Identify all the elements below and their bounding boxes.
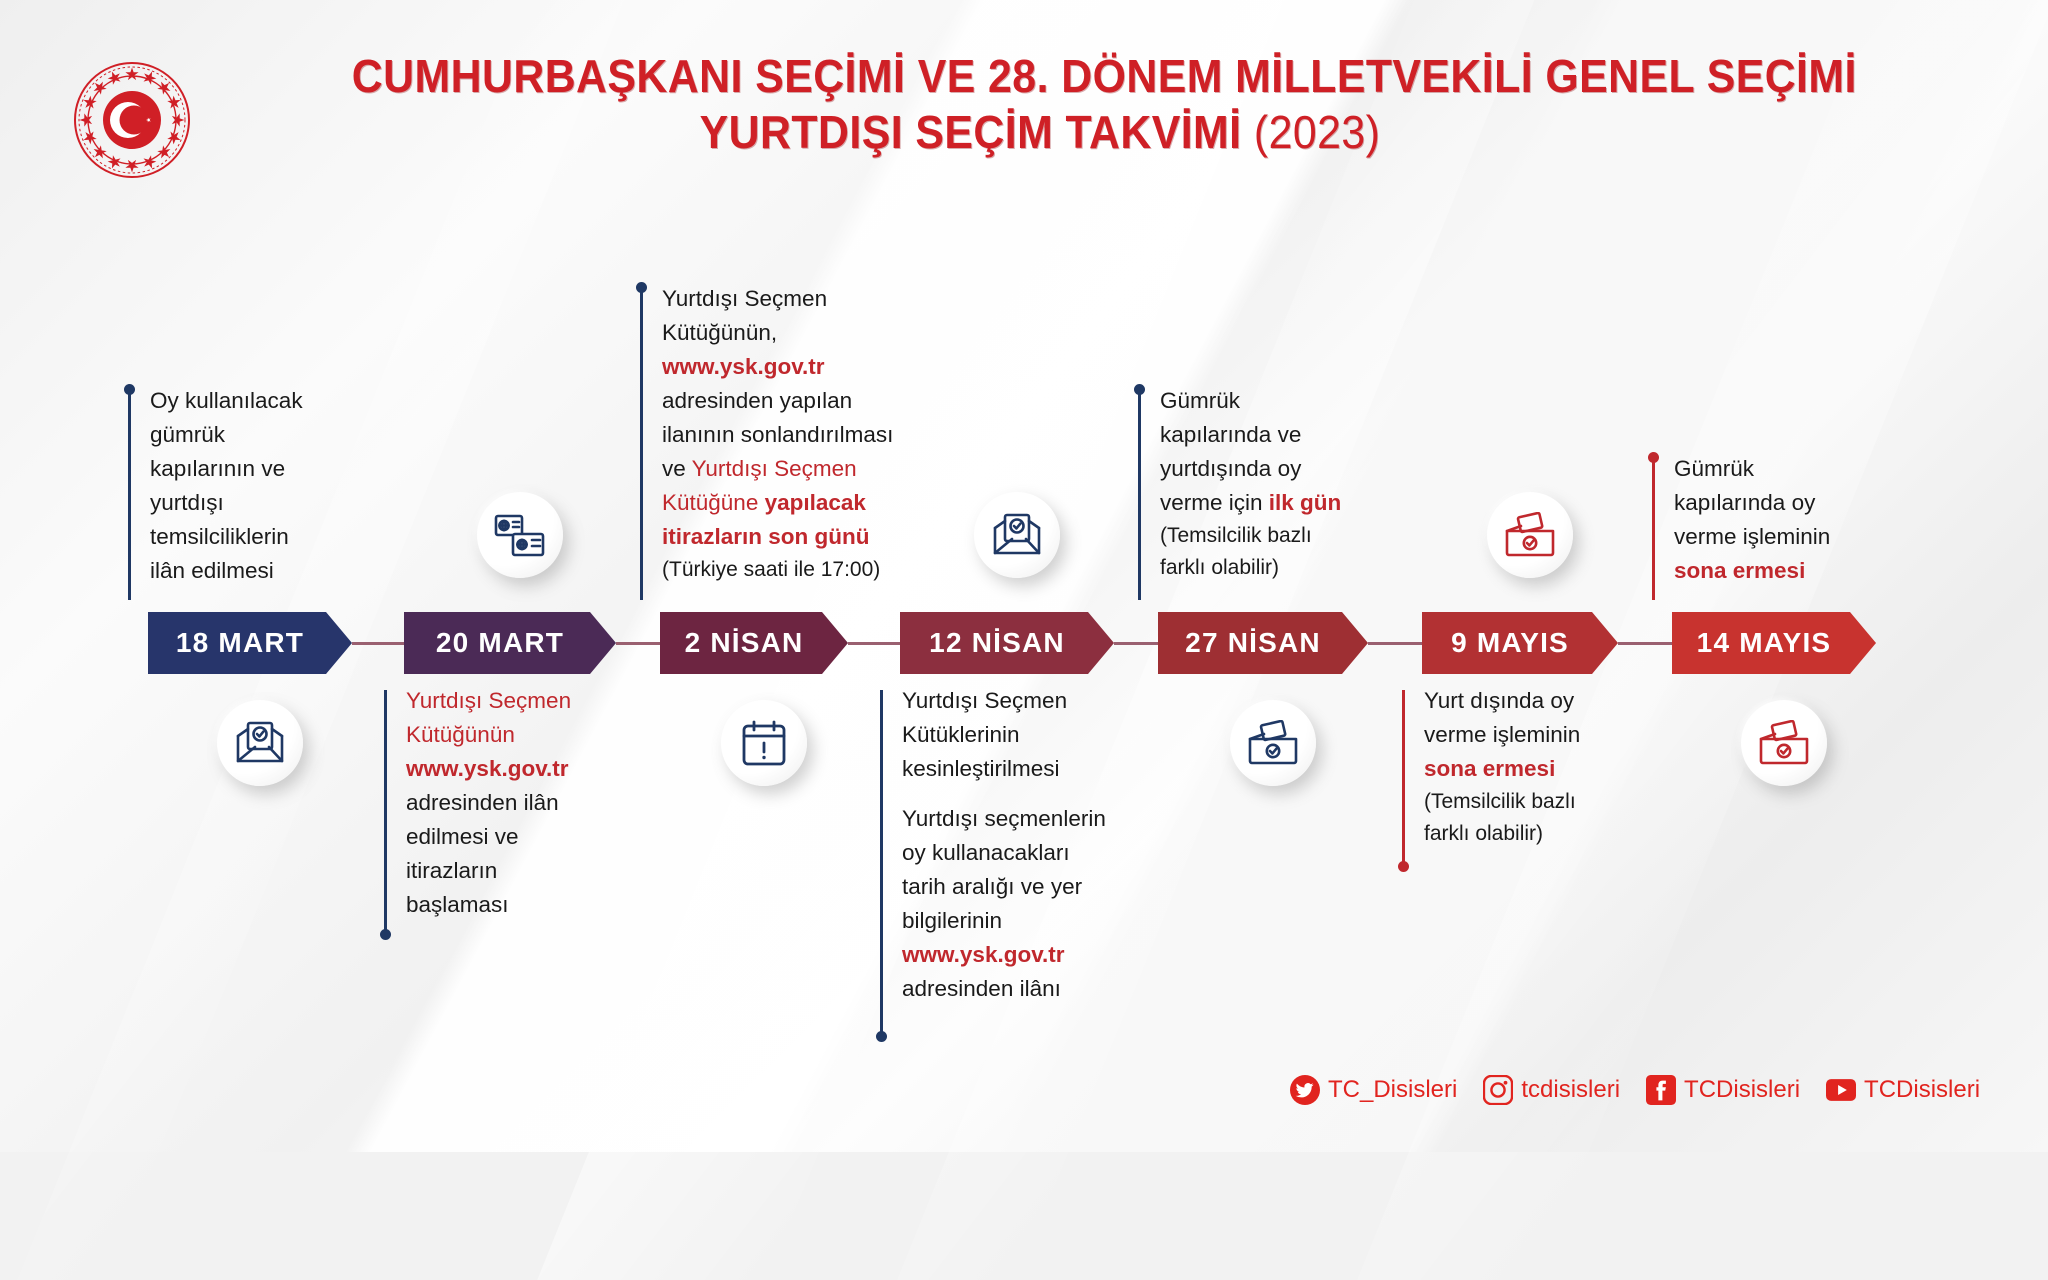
callout-stem [1652,456,1655,600]
milestone-date-label: 12 NİSAN [929,627,1065,659]
description-line: ilân edilmesi [150,554,470,588]
description-text: başlaması [406,892,509,917]
description-line: farklı olabilir) [1424,818,1724,850]
milestone-description-below: Yurt dışında oyverme işlemininsona ermes… [1424,684,1724,850]
description-line: itirazların son günü [662,520,982,554]
milestone-description-above: Gümrükkapılarında veyurtdışında oyverme … [1160,384,1480,584]
social-links: TC_DisisleritcdisisleriTCDisisleriTCDisi… [1290,1070,1980,1110]
title-year: (2023) [1254,106,1380,158]
description-text: tarih aralığı ve yer [902,874,1082,899]
description-line: Yurtdışı Seçmen [662,282,982,316]
description-text: yurtdışında oy [1160,456,1301,481]
description-line: Yurt dışında oy [1424,684,1724,718]
infographic-canvas: CUMHURBAŞKANI SEÇİMİ VE 28. DÖNEM MİLLET… [0,0,2048,1152]
description-text: (Temsilcilik bazlı [1160,524,1312,547]
description-line: Yurtdışı seçmenlerin [902,802,1202,836]
description-text: www.ysk.gov.tr [902,942,1065,967]
description-text: adresinden yapılan [662,388,852,413]
description-text: (Türkiye saati ile 17:00) [662,558,880,581]
timeline-connector [352,642,404,645]
callout-stem [1402,690,1405,868]
description-line: oy kullanacakları [902,836,1202,870]
description-text: Yurtdışı Seçmen [662,286,827,311]
description-text: Kütüğünün, [662,320,777,345]
milestone-date-label: 14 MAYIS [1697,627,1832,659]
description-text: Kütüklerinin [902,722,1020,747]
description-line: kapılarının ve [150,452,470,486]
description-text: Kütüğüne [662,490,765,515]
description-text: ilân edilmesi [150,558,274,583]
description-text: bilgilerinin [902,908,1002,933]
milestone-description-below: Yurtdışı SeçmenKütüklerininkesinleştiril… [902,684,1202,1006]
description-line: Kütüğünün [406,718,706,752]
milestone-description-above: Gümrükkapılarında oyverme işlemininsona … [1674,452,1994,588]
social-handle: TCDisisleri [1684,1076,1800,1104]
social-handle: TCDisisleri [1864,1076,1980,1104]
description-line: www.ysk.gov.tr [406,752,706,786]
ballot-box-icon [1230,700,1316,786]
description-text: farklı olabilir) [1160,556,1279,579]
milestone-date-chevron[interactable]: 20 MART [404,612,616,674]
envelope-check-icon [974,492,1060,578]
description-line: Oy kullanılacak [150,384,470,418]
milestone-date-chevron[interactable]: 9 MAYIS [1422,612,1618,674]
social-link[interactable]: tcdisisleri [1483,1075,1620,1105]
description-line: farklı olabilir) [1160,552,1480,584]
milestone-date-chevron[interactable]: 18 MART [148,612,352,674]
description-line: (Temsilcilik bazlı [1160,520,1480,552]
description-line: verme işleminin [1424,718,1724,752]
description-text: itirazların son günü [662,524,870,549]
description-text: Yurtdışı Seçmen [692,456,857,481]
milestone-date-label: 2 NİSAN [685,627,804,659]
description-line: verme işleminin [1674,520,1994,554]
description-text: adresinden ilân [406,790,559,815]
title-line-2-main: YURTDIŞI SEÇİM TAKVİMİ [700,106,1242,158]
callout-dot [636,282,647,293]
timeline-connector [848,642,900,645]
description-text: kapılarında ve [1160,422,1301,447]
description-line: sona ermesi [1424,752,1724,786]
description-text: www.ysk.gov.tr [662,354,825,379]
callout-stem [640,286,643,600]
milestone-date-chevron[interactable]: 27 NİSAN [1158,612,1368,674]
description-line: ve Yurtdışı Seçmen [662,452,982,486]
description-line: www.ysk.gov.tr [662,350,982,384]
description-line: tarih aralığı ve yer [902,870,1202,904]
description-line: verme için ilk gün [1160,486,1480,520]
description-text: ve [662,456,692,481]
callout-dot [1134,384,1145,395]
milestone-description-below: Yurtdışı SeçmenKütüğününwww.ysk.gov.trad… [406,684,706,922]
description-line [902,786,1202,802]
description-line: www.ysk.gov.tr [902,938,1202,972]
description-line: ilanının sonlandırılması [662,418,982,452]
social-handle: tcdisisleri [1521,1076,1620,1104]
description-line: Gümrük [1160,384,1480,418]
description-line: yurtdışı [150,486,470,520]
description-text: (Temsilcilik bazlı [1424,790,1576,813]
description-line: Kütüklerinin [902,718,1202,752]
description-line: başlaması [406,888,706,922]
description-line: Kütüğünün, [662,316,982,350]
description-line: Gümrük [1674,452,1994,486]
description-line: Kütüğüne yapılacak [662,486,982,520]
description-text: yurtdışı [150,490,224,515]
page-title: CUMHURBAŞKANI SEÇİMİ VE 28. DÖNEM MİLLET… [300,48,1780,160]
milestone-description-above: Oy kullanılacakgümrükkapılarının veyurtd… [150,384,470,588]
description-line: Yurtdışı Seçmen [406,684,706,718]
description-text: Yurtdışı Seçmen [902,688,1067,713]
description-line: (Türkiye saati ile 17:00) [662,554,982,586]
description-text: gümrük [150,422,225,447]
timeline-connector [1618,642,1672,645]
ministry-emblem-icon [72,60,192,180]
milestone-date-chevron[interactable]: 2 NİSAN [660,612,848,674]
header: CUMHURBAŞKANI SEÇİMİ VE 28. DÖNEM MİLLET… [0,38,2048,188]
description-text: ilk gün [1269,490,1342,515]
id-cards-globe-icon [477,492,563,578]
callout-dot [380,929,391,940]
description-line: adresinden ilânı [902,972,1202,1006]
description-text: www.ysk.gov.tr [406,756,569,781]
social-link[interactable]: TCDisisleri [1826,1075,1980,1105]
calendar-alert-icon [721,700,807,786]
description-text: kapılarının ve [150,456,285,481]
callout-dot [1648,452,1659,463]
description-text: itirazların [406,858,497,883]
milestone-date-label: 9 MAYIS [1451,627,1569,659]
social-link[interactable]: TCDisisleri [1646,1075,1800,1105]
callout-dot [876,1031,887,1042]
callout-dot [1398,861,1409,872]
description-line: Yurtdışı Seçmen [902,684,1202,718]
description-text: edilmesi ve [406,824,519,849]
title-line-1: CUMHURBAŞKANI SEÇİMİ VE 28. DÖNEM MİLLET… [352,48,1728,104]
ballot-box-red-icon [1487,492,1573,578]
description-line: adresinden yapılan [662,384,982,418]
description-line: yurtdışında oy [1160,452,1480,486]
timeline-connector [1114,642,1158,645]
milestone-description-above: Yurtdışı SeçmenKütüğünün,www.ysk.gov.tra… [662,282,982,586]
title-line-2: YURTDIŞI SEÇİM TAKVİMİ (2023) [352,104,1728,160]
milestone-date-label: 18 MART [176,627,304,659]
description-text: adresinden ilânı [902,976,1061,1001]
description-text: Yurtdışı Seçmen [406,688,571,713]
description-text: Yurtdışı seçmenlerin [902,806,1106,831]
description-text: sona ermesi [1424,756,1555,781]
description-line: sona ermesi [1674,554,1994,588]
description-line: kapılarında ve [1160,418,1480,452]
callout-stem [1138,388,1141,600]
callout-stem [384,690,387,936]
timeline-axis: 18 MART20 MART2 NİSAN12 NİSAN27 NİSAN9 M… [0,612,2048,674]
description-text: oy kullanacakları [902,840,1070,865]
twitter-icon [1290,1075,1320,1105]
instagram-icon [1483,1075,1513,1105]
description-text: Gümrük [1160,388,1240,413]
milestone-date-chevron[interactable]: 12 NİSAN [900,612,1114,674]
description-text: Gümrük [1674,456,1754,481]
description-text: farklı olabilir) [1424,822,1543,845]
envelope-check-icon [217,700,303,786]
description-text: yapılacak [765,490,866,515]
description-text: Yurt dışında oy [1424,688,1574,713]
description-text: sona ermesi [1674,558,1805,583]
milestone-date-label: 20 MART [436,627,564,659]
timeline-connector [1368,642,1422,645]
description-line: adresinden ilân [406,786,706,820]
description-text: verme işleminin [1424,722,1580,747]
social-handle: TC_Disisleri [1328,1076,1457,1104]
description-text: ilanının sonlandırılması [662,422,893,447]
description-line: edilmesi ve [406,820,706,854]
description-line: bilgilerinin [902,904,1202,938]
description-text: temsilciliklerin [150,524,289,549]
ballot-box-red-icon [1741,700,1827,786]
description-line: (Temsilcilik bazlı [1424,786,1724,818]
description-line: kesinleştirilmesi [902,752,1202,786]
callout-dot [124,384,135,395]
social-link[interactable]: TC_Disisleri [1290,1075,1457,1105]
milestone-date-label: 27 NİSAN [1185,627,1321,659]
milestone-date-chevron[interactable]: 14 MAYIS [1672,612,1876,674]
callout-stem [880,690,883,1038]
description-line: itirazların [406,854,706,888]
description-text: kesinleştirilmesi [902,756,1060,781]
timeline-connector [616,642,660,645]
youtube-icon [1826,1075,1856,1105]
description-text: verme için [1160,490,1269,515]
description-line: temsilciliklerin [150,520,470,554]
description-text: kapılarında oy [1674,490,1815,515]
description-text: verme işleminin [1674,524,1830,549]
description-text: Oy kullanılacak [150,388,303,413]
description-line: gümrük [150,418,470,452]
facebook-icon [1646,1075,1676,1105]
callout-stem [128,388,131,600]
description-text: Kütüğünün [406,722,515,747]
description-line: kapılarında oy [1674,486,1994,520]
